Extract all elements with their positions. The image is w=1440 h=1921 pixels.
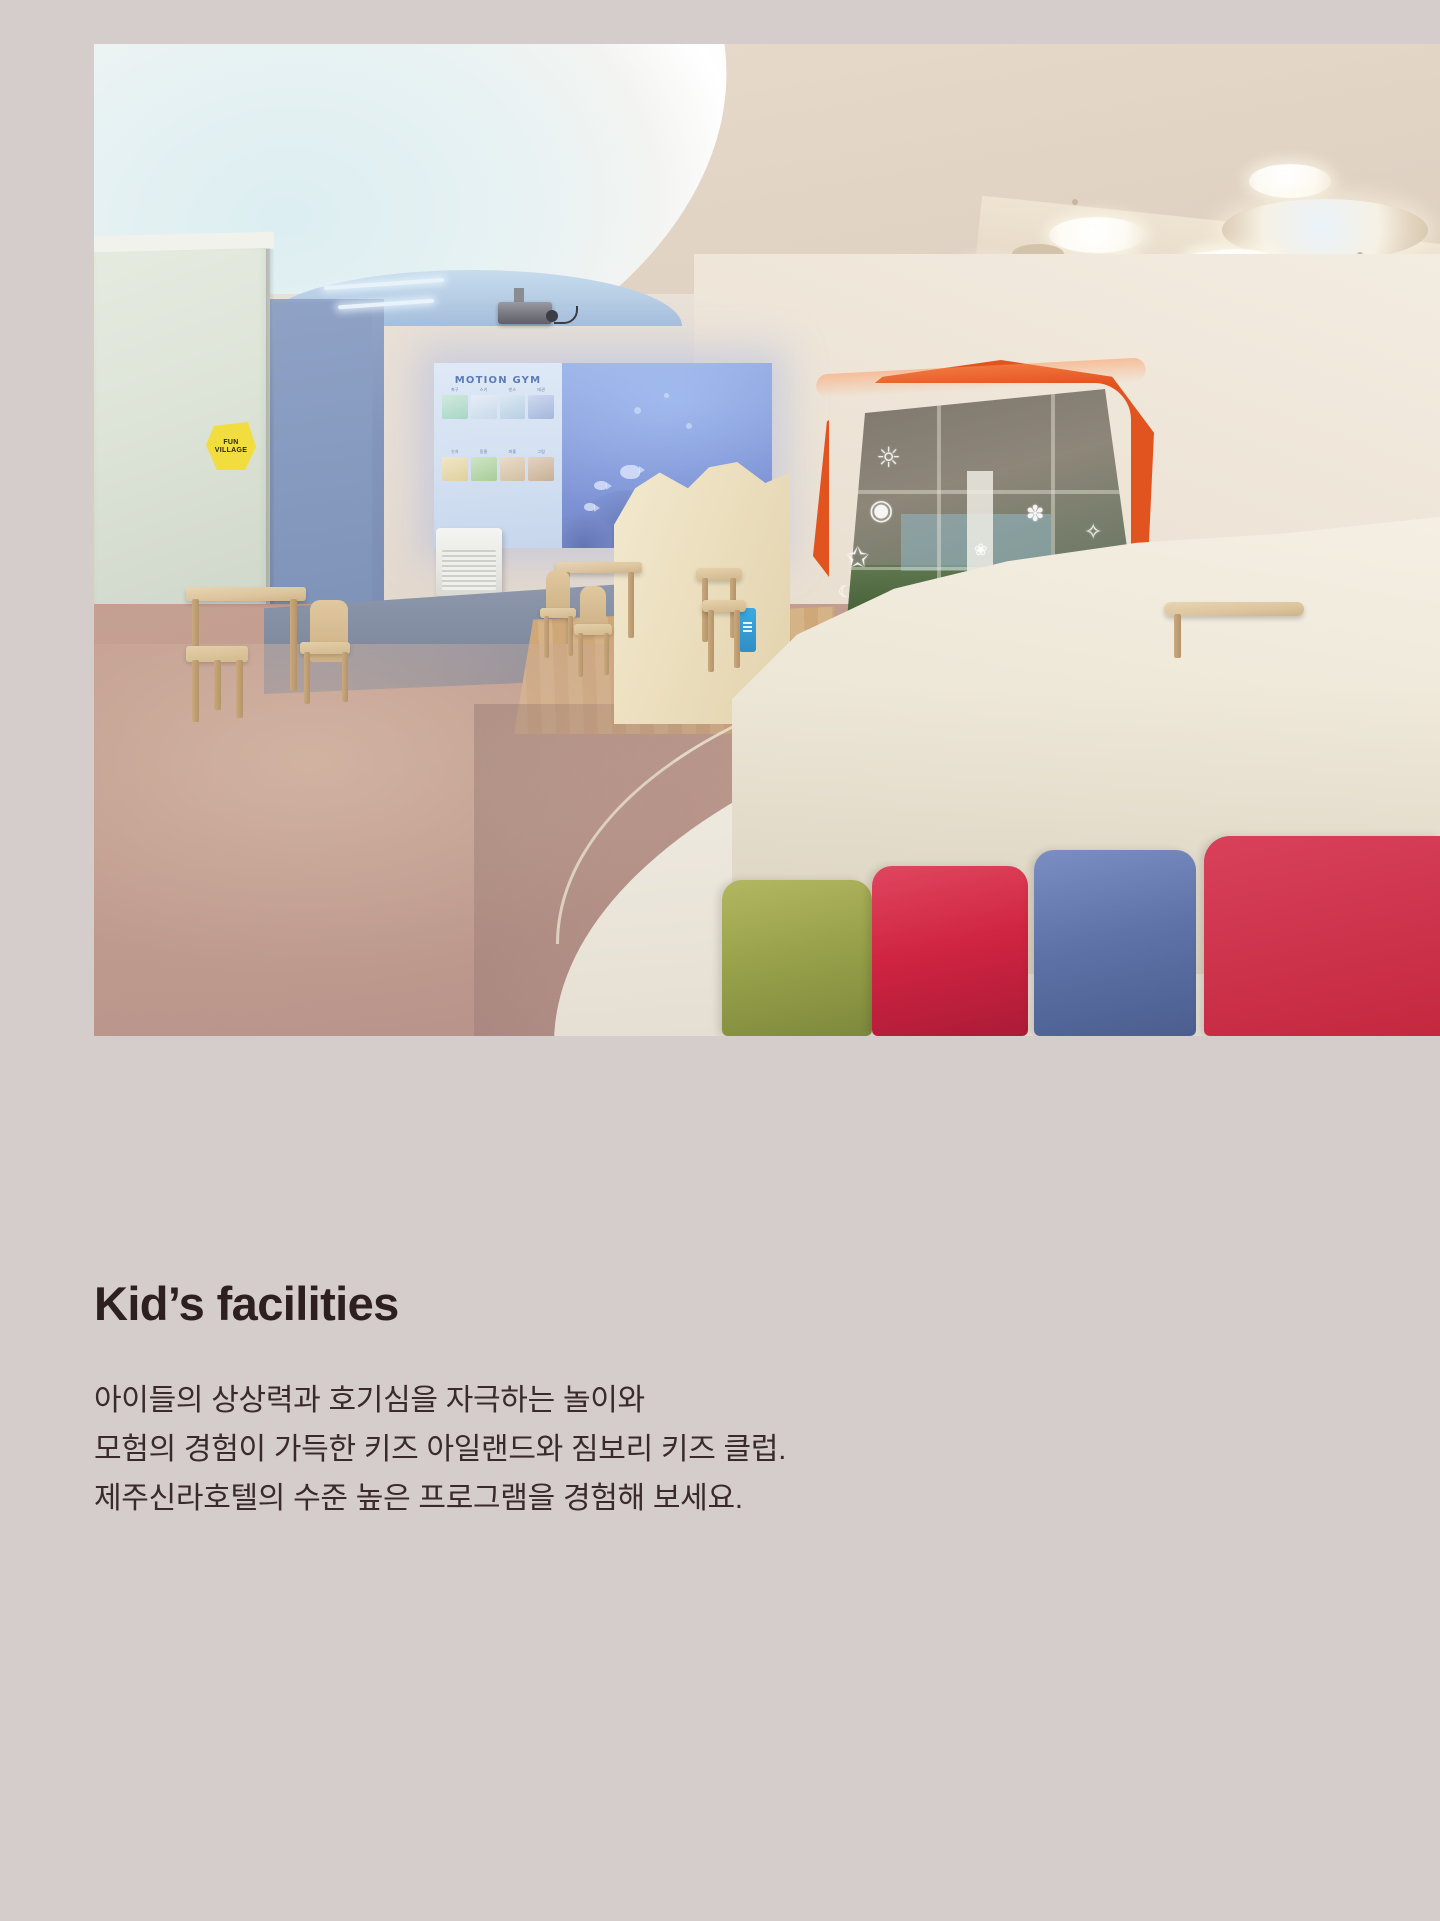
table-leg [290, 599, 297, 691]
activity-tile-label: 댄스 [500, 387, 526, 393]
activity-tile-label: 그림 [528, 449, 554, 455]
ottoman-red-partial [1204, 836, 1440, 1036]
projector-icon [498, 302, 552, 324]
chair-leg [342, 652, 348, 702]
activity-tile: 스키 [471, 395, 497, 419]
page-title: Kid’s facilities [94, 1278, 1344, 1330]
stool-leg [214, 660, 221, 710]
activity-tile-label: 축구 [442, 387, 468, 393]
text-section: Kid’s facilities 아이들의 상상력과 호기심을 자극하는 놀이와… [94, 1278, 1344, 1523]
activity-tile: 축구 [442, 395, 468, 419]
cloud-doodle-icon: ❀ [974, 542, 987, 558]
chair-leg [304, 652, 310, 704]
activity-tile: 댄스 [500, 395, 526, 419]
description-line-1: 아이들의 상상력과 호기심을 자극하는 놀이와 [94, 1376, 1344, 1425]
description-text: 아이들의 상상력과 호기심을 자극하는 놀이와 모험의 경험이 가득한 키즈 아… [94, 1376, 1344, 1524]
activity-tile: 동물 [471, 457, 497, 481]
ceiling-light-icon [1049, 217, 1145, 253]
fish-doodle-icon: ✧ [1084, 522, 1102, 544]
chair-leg [578, 633, 583, 677]
hero-image: FUN VILLAGE MOTION GYM 축구 [94, 44, 1440, 1036]
fun-village-line2: VILLAGE [215, 447, 247, 454]
table-leg [628, 572, 634, 638]
bubble-icon [686, 423, 692, 429]
air-purifier [436, 528, 502, 596]
chair-leg [568, 616, 573, 656]
chair-leg [604, 633, 609, 675]
fish-icon [584, 503, 595, 511]
ceiling-sensor-icon [1072, 199, 1078, 205]
activity-tile-label: 숫자 [442, 449, 468, 455]
activity-tile-label: 퍼즐 [500, 449, 526, 455]
fun-village-line1: FUN [223, 439, 238, 446]
acoustic-wall-panel [274, 302, 372, 622]
kids-table [186, 587, 306, 601]
coral-shape [554, 514, 612, 548]
kids-table [1164, 602, 1304, 616]
kids-facility-photo: FUN VILLAGE MOTION GYM 축구 [94, 44, 1440, 1036]
activity-tile: 그림 [528, 457, 554, 481]
fish-icon [594, 481, 607, 490]
spiral-doodle-icon: ◉ [869, 496, 893, 524]
motion-gym-title: MOTION GYM [442, 375, 554, 386]
activity-tile-label: 태권 [528, 387, 554, 393]
ceiling-light-icon [1249, 164, 1331, 198]
chair-leg [544, 616, 549, 658]
stool-leg [192, 660, 199, 722]
stool-leg [708, 610, 714, 672]
activity-tile: 숫자 [442, 457, 468, 481]
activity-tile: 태권 [528, 395, 554, 419]
activity-tiles-row1: 축구 스키 댄스 태권 [442, 395, 554, 419]
flower-doodle-icon: ✽ [1026, 504, 1044, 526]
bubble-icon [664, 393, 669, 398]
ottoman-green [722, 880, 872, 1036]
purifier-vents [442, 550, 496, 590]
stool-leg [236, 660, 243, 718]
wall-info-tag [739, 608, 756, 652]
description-line-3: 제주신라호텔의 수준 높은 프로그램을 경험해 보세요. [94, 1474, 1344, 1523]
stool-leg [734, 610, 740, 668]
fish-icon [620, 465, 640, 479]
ottoman-blue [1034, 850, 1196, 1036]
activity-tile-label: 스키 [471, 387, 497, 393]
table-leg [1174, 614, 1181, 658]
description-line-2: 모험의 경험이 가득한 키즈 아일랜드와 짐보리 키즈 클럽. [94, 1425, 1344, 1474]
activity-tiles-row2: 숫자 동물 퍼즐 그림 [442, 457, 554, 481]
ottoman-red [872, 866, 1028, 1036]
activity-tile: 퍼즐 [500, 457, 526, 481]
moon-doodle-icon: ☾ [838, 584, 852, 600]
bubble-icon [634, 407, 641, 414]
sun-doodle-icon: ☼ [876, 444, 901, 472]
activity-tile-label: 동물 [471, 449, 497, 455]
star-doodle-icon: ✩ [846, 544, 869, 572]
